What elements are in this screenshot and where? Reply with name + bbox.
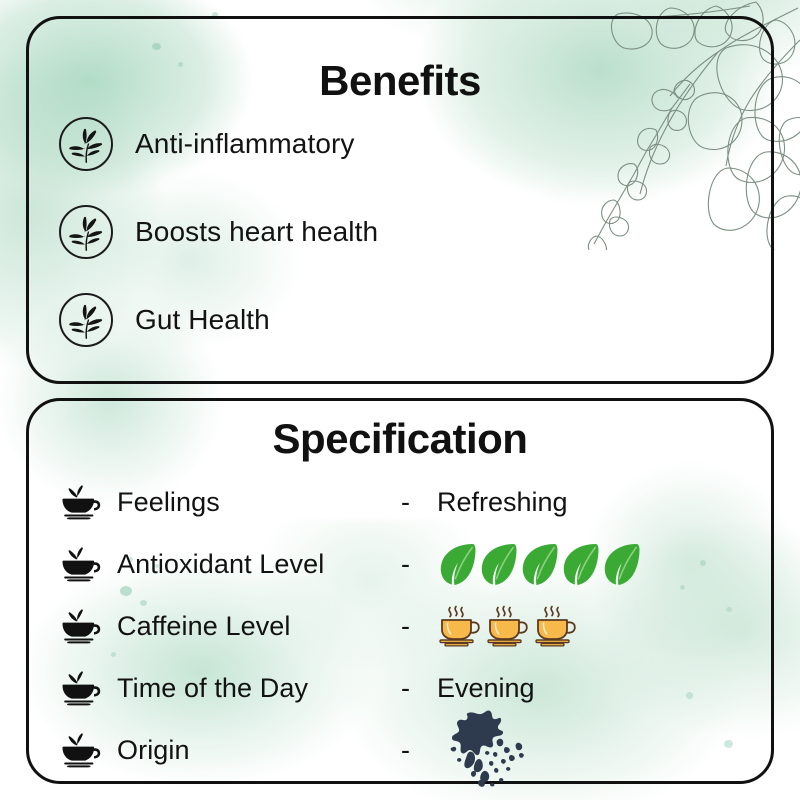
spec-separator: - [401,549,437,580]
benefit-item: Anti-inflammatory [57,115,741,173]
spec-separator: - [401,487,437,518]
table-row: Feelings - Refreshing [55,471,747,533]
spec-value-text: Evening [437,673,535,704]
tea-leaf-circle-icon [57,203,115,261]
spec-label: Time of the Day [117,673,401,704]
benefits-card: Benefits Anti-inflammatory [26,16,774,384]
benefit-item: Gut Health [57,291,741,349]
table-row: Antioxidant Level - [55,533,747,595]
benefit-label: Boosts heart health [135,216,378,248]
specification-card: Specification F [26,398,774,784]
spec-label: Origin [117,735,401,766]
spec-value [437,605,747,647]
teacup-leaf-icon [55,540,103,588]
spec-value: Refreshing [437,487,747,518]
leaf-rating-unit [519,542,559,586]
cup-rating-unit [437,605,483,647]
cup-rating-unit [485,605,531,647]
teacup-leaf-icon [55,602,103,650]
greece-map-icon [437,707,529,787]
leaf-rating-unit [560,542,600,586]
spec-label: Feelings [117,487,401,518]
leaf-rating-unit [437,542,477,586]
leaf-rating-unit [478,542,518,586]
benefits-title: Benefits [29,57,771,105]
tea-leaf-circle-icon [57,115,115,173]
spec-value [437,542,747,586]
cup-rating-unit [533,605,579,647]
benefit-label: Gut Health [135,304,270,336]
leaf-rating-unit [601,542,641,586]
spec-value [437,713,747,787]
table-row: Origin - [55,719,747,781]
teacup-leaf-icon [55,664,103,712]
infographic-canvas: Benefits Anti-inflammatory [0,0,800,800]
spec-separator: - [401,673,437,704]
specification-title: Specification [29,415,771,463]
spec-separator: - [401,611,437,642]
spec-label: Caffeine Level [117,611,401,642]
caffeine-cup-rating [437,605,579,647]
spec-value: Evening [437,673,747,704]
specification-table: Feelings - Refreshing [55,471,747,781]
spec-label: Antioxidant Level [117,549,401,580]
antioxidant-leaf-rating [437,542,641,586]
benefit-item: Boosts heart health [57,203,741,261]
tea-leaf-circle-icon [57,291,115,349]
benefit-label: Anti-inflammatory [135,128,355,160]
spec-value-text: Refreshing [437,487,568,518]
table-row: Time of the Day - Evening [55,657,747,719]
teacup-leaf-icon [55,478,103,526]
teacup-leaf-icon [55,726,103,774]
spec-separator: - [401,735,437,766]
table-row: Caffeine Level - [55,595,747,657]
